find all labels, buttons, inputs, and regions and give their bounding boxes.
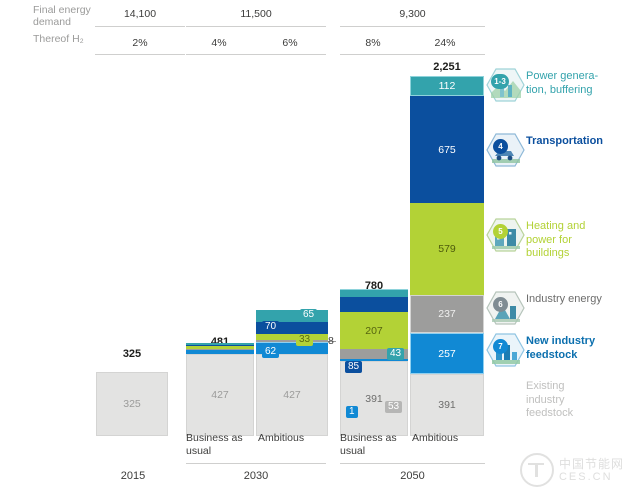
- segment-2050-amb-industry-energy-value: 237: [438, 308, 456, 320]
- legend-item-transportation[interactable]: 4 Transportation: [486, 131, 603, 171]
- axis-year-2050: 2050: [340, 470, 485, 482]
- segment-2030-amb-transportation-value: 70: [262, 321, 279, 333]
- segment-2050-amb-transportation-value: 675: [438, 144, 456, 156]
- final-energy-demand-label-text: Final energy demand: [33, 4, 91, 28]
- legend-item-new-industry-feedstock[interactable]: 7 New industry feedstock: [486, 331, 595, 371]
- axis-rule-2030: [186, 463, 326, 464]
- thereof-h2-label-text: Thereof H₂: [33, 33, 84, 45]
- heating-buildings-badge: 5: [493, 224, 508, 239]
- legend-item-power-generation-buffering[interactable]: 1-3 Power genera- tion, buffering: [486, 66, 598, 106]
- segment-2030-amb-heating-buildings: [256, 334, 328, 340]
- axis-scenario-2050-amb: Ambitious: [412, 432, 476, 445]
- legend-label-line1: Transportation: [526, 135, 603, 147]
- axis-scenario-2030-bau: Business as usual: [186, 432, 250, 457]
- segment-2050-amb-heating-buildings-value: 579: [438, 243, 456, 255]
- segment-2030-amb-industry-energy: [256, 340, 328, 342]
- legend-label-line1: New industry: [526, 335, 595, 347]
- table-rule-2050-top: [340, 26, 485, 27]
- legend-item-heating-and-power-for-buildings[interactable]: 5 Heating and power for buildings: [486, 216, 585, 261]
- bar-total-2050-amb: 2,251: [410, 61, 484, 73]
- legend-label-line1: Industry energy: [526, 293, 602, 305]
- segment-2050-bau-heating-buildings-value: 207: [365, 325, 383, 337]
- segment-2030-amb-heating-buildings-value: 33: [296, 334, 313, 346]
- legend-label-new-industry-feedstock: New industry feedstock: [526, 331, 595, 362]
- legend: 1-3 Power genera- tion, buffering 4 T: [486, 56, 632, 436]
- h2-2030-amb-value: 6%: [257, 37, 323, 49]
- axis-year-2030: 2030: [186, 470, 326, 482]
- segment-2030-bau-new-feedstock: [186, 350, 254, 354]
- segment-2050-bau-new-feedstock-value: 1: [346, 406, 358, 418]
- watermark-logo-icon: [520, 453, 554, 487]
- segment-2050-amb-heating-buildings: 579: [410, 203, 484, 295]
- segment-2050-amb-industry-energy: 237: [410, 295, 484, 333]
- new-industry-feedstock-badge: 7: [493, 339, 508, 354]
- axis-year-2015: 2015: [93, 470, 173, 482]
- industry-energy-badge: 6: [493, 297, 508, 312]
- legend-label-line1: Heating and: [526, 220, 585, 232]
- segment-2050-bau-transportation-value: 85: [345, 361, 362, 373]
- power-generation-icon: 1-3: [486, 66, 526, 106]
- h2-2015-value: 2%: [95, 37, 185, 49]
- h2-2030-bau-value: 4%: [186, 37, 252, 49]
- segment-2050-bau-power-generation-value: 43: [387, 348, 404, 360]
- segment-2030-amb-power-generation-value: 65: [300, 309, 317, 321]
- demand-2050-value: 9,300: [340, 8, 485, 20]
- segment-2030-bau-transportation: [186, 345, 254, 346]
- existing-industry-feedstock-spacer: [486, 376, 526, 416]
- segment-2050-amb-existing-feedstock: 391: [410, 374, 484, 436]
- new-industry-feedstock-icon: 7: [486, 331, 526, 371]
- segment-2030-bau-power-generation: [186, 343, 254, 345]
- segment-2030-bau-industry-energy: [186, 349, 254, 350]
- legend-label-line2: power for: [526, 234, 572, 246]
- segment-2030-bau-existing-feedstock: 427: [186, 354, 254, 436]
- watermark-text-en: CES.CN: [559, 471, 624, 483]
- legend-label-line2: feedstock: [526, 349, 577, 361]
- power-generation-badge: 1-3: [491, 74, 509, 89]
- demand-2030-value: 11,500: [186, 8, 326, 20]
- legend-label-line2: industry: [526, 394, 565, 406]
- segment-2050-amb-new-feedstock-value: 257: [438, 348, 456, 360]
- axis-scenario-2050-bau: Business as usual: [340, 432, 404, 457]
- segment-2030-amb-new-feedstock-value: 62: [262, 346, 279, 358]
- segment-2050-amb-existing-feedstock-value: 391: [438, 399, 456, 411]
- legend-label-industry-energy: Industry energy: [526, 289, 602, 307]
- segment-2030-amb-existing-feedstock-value: 427: [283, 389, 301, 401]
- table-rule-2015-bottom: [95, 54, 185, 55]
- h2-2050-bau-value: 8%: [340, 37, 406, 49]
- legend-label-transportation: Transportation: [526, 131, 603, 149]
- watermark: 中国节能网 CES.CN: [520, 453, 624, 487]
- table-rule-2030-bottom: [186, 54, 326, 55]
- segment-2030-amb-existing-feedstock: 427: [256, 354, 328, 436]
- summary-table: Final energy demand Thereof H₂ 14,100 11…: [0, 0, 632, 56]
- bar-2015[interactable]: 325: [96, 372, 168, 436]
- bar-2030-bau[interactable]: 427: [186, 343, 254, 436]
- segment-2050-bau-transportation: [340, 297, 408, 312]
- segment-2050-amb-transportation: 675: [410, 96, 484, 203]
- chart-canvas: Final energy demand Thereof H₂ 14,100 11…: [0, 0, 632, 495]
- segment-2050-bau-power-generation: [340, 289, 408, 297]
- bar-2030-amb[interactable]: 427: [256, 320, 328, 436]
- transportation-badge: 4: [493, 139, 508, 154]
- segment-2050-amb-power-generation: 112: [410, 76, 484, 96]
- watermark-text: 中国节能网 CES.CN: [559, 458, 624, 483]
- axis-rule-2050: [340, 463, 485, 464]
- legend-label-power-generation-buffering: Power genera- tion, buffering: [526, 66, 598, 97]
- segment-2050-amb-new-feedstock: 257: [410, 333, 484, 374]
- segment-2015-existing-feedstock-value: 325: [123, 398, 141, 410]
- legend-label-line1: Existing: [526, 380, 565, 392]
- axis-scenario-2030-amb: Ambitious: [258, 432, 322, 445]
- transportation-icon: 4: [486, 131, 526, 171]
- heating-buildings-icon: 5: [486, 216, 526, 256]
- bar-total-2015: 325: [96, 348, 168, 360]
- segment-2050-amb-power-generation-value: 112: [439, 80, 456, 92]
- legend-label-line2: tion, buffering: [526, 84, 592, 96]
- watermark-text-cn: 中国节能网: [559, 458, 624, 471]
- demand-2015-value: 14,100: [95, 8, 185, 20]
- legend-label-line1: Power genera-: [526, 70, 598, 82]
- segment-2030-amb-industry-energy-value: 8: [328, 335, 334, 347]
- industry-energy-icon: 6: [486, 289, 526, 329]
- segment-2050-bau-industry-energy-value: 53: [385, 401, 402, 413]
- table-rule-2030-top: [186, 26, 326, 27]
- legend-item-existing-industry-feedstock[interactable]: Existing industry feedstock: [486, 376, 573, 421]
- legend-label-existing-industry-feedstock: Existing industry feedstock: [526, 376, 573, 421]
- thereof-h2-row-label: Thereof H₂: [33, 34, 95, 46]
- legend-label-heating-and-power-for-buildings: Heating and power for buildings: [526, 216, 585, 261]
- segment-2015-existing-feedstock: 325: [96, 372, 168, 436]
- segment-2050-bau-heating-buildings: 207: [340, 312, 408, 349]
- segment-2050-bau-existing-feedstock-value: 391: [365, 393, 383, 405]
- legend-label-line3: buildings: [526, 247, 569, 259]
- final-energy-demand-row-label: Final energy demand: [33, 5, 95, 28]
- table-rule-2015-top: [95, 26, 185, 27]
- legend-label-line3: feedstock: [526, 407, 573, 419]
- bar-2050-amb[interactable]: 391 257 237 579 675 112: [410, 80, 484, 436]
- table-rule-2050-bottom: [340, 54, 485, 55]
- h2-2050-amb-value: 24%: [412, 37, 478, 49]
- segment-2030-bau-heating-buildings: [186, 346, 254, 349]
- legend-item-industry-energy[interactable]: 6 Industry energy: [486, 289, 602, 329]
- segment-2030-bau-existing-feedstock-value: 427: [211, 389, 229, 401]
